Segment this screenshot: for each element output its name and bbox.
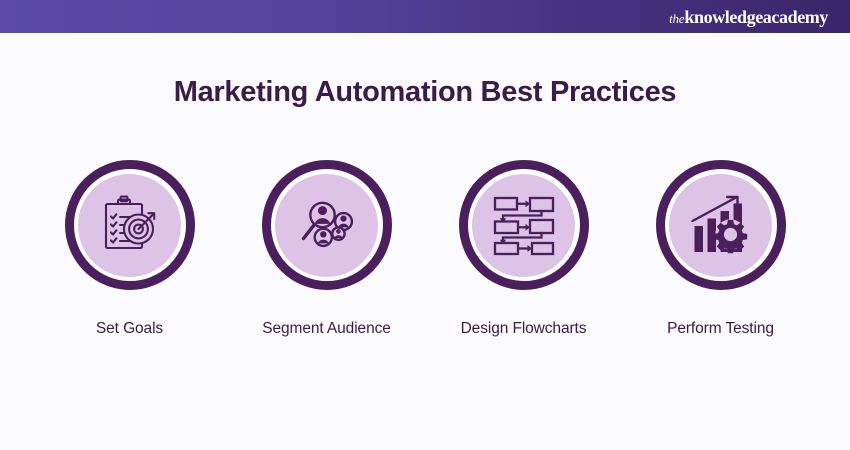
step-design-flowcharts[interactable]: Design Flowcharts [459,160,589,338]
step-4-circle [656,160,786,290]
flowchart-icon [492,194,556,256]
step-4-circle-fill [669,174,772,277]
step-2-circle-fill [275,174,378,277]
steps-row: Set Goals [0,160,850,338]
step-4-label: Perform Testing [667,320,774,338]
step-set-goals[interactable]: Set Goals [65,160,195,338]
step-segment-audience[interactable]: Segment Audience [262,160,392,338]
brand-logo-name: knowledgeacademy [684,8,828,26]
brand-logo: theknowledgeacademy [669,8,850,26]
step-perform-testing[interactable]: Perform Testing [656,160,786,338]
step-1-circle [65,160,195,290]
page-title: Marketing Automation Best Practices [0,76,850,109]
step-1-label: Set Goals [96,320,163,338]
magnifier-people-icon [295,193,359,257]
clipboard-target-icon [97,192,163,258]
brand-logo-prefix: the [669,12,684,25]
step-3-circle [459,160,589,290]
step-3-label: Design Flowcharts [461,320,587,338]
step-1-circle-fill [78,174,181,277]
bar-chart-gear-icon [689,194,753,256]
step-3-circle-fill [472,174,575,277]
step-2-circle [262,160,392,290]
header-bar: theknowledgeacademy [0,0,850,33]
step-2-label: Segment Audience [262,320,391,338]
